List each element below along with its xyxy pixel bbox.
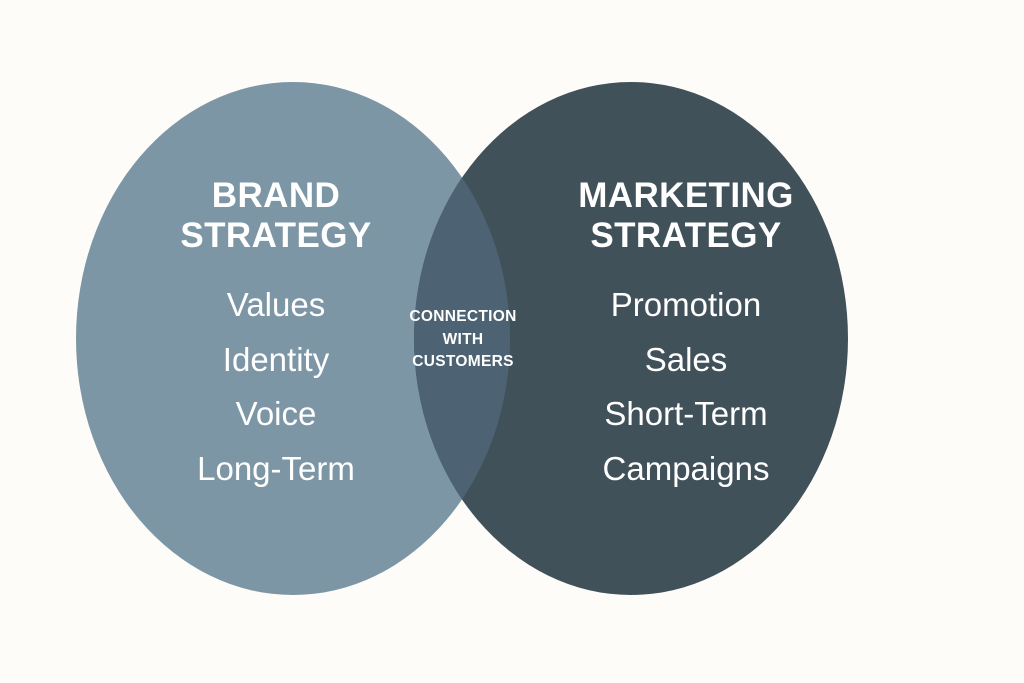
- venn-diagram: BRAND STRATEGY Values Identity Voice Lon…: [0, 0, 1024, 683]
- venn-shapes: [0, 0, 1024, 683]
